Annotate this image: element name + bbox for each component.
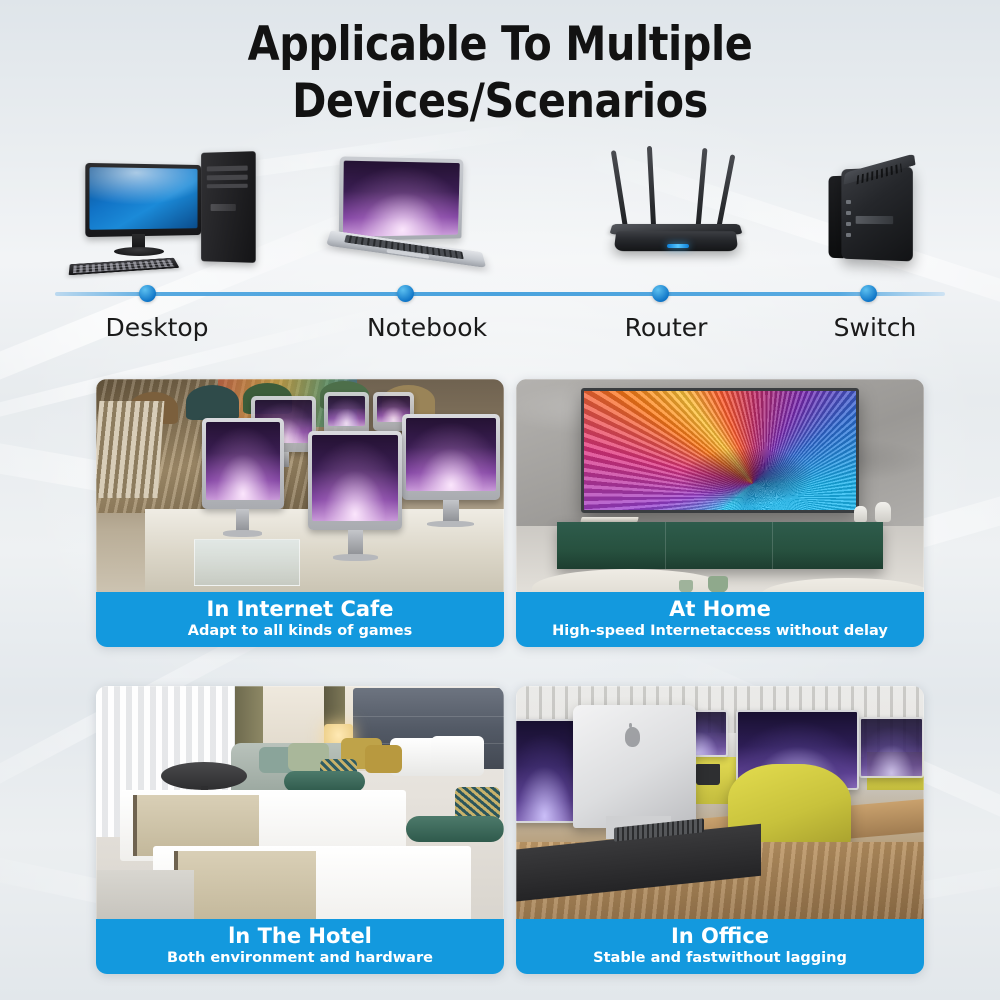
scene-subtitle: Both environment and hardware [102,950,498,967]
wifi-router-icon [595,144,785,284]
scene-title: In Office [522,924,918,948]
scene-caption-internet-cafe: In Internet Cafe Adapt to all kinds of g… [96,592,504,647]
timeline-dot-desktop[interactable] [139,285,156,302]
scene-subtitle: Adapt to all kinds of games [102,623,498,640]
timeline-label-desktop: Desktop [105,313,208,342]
desktop-computer-icon [62,144,262,284]
network-switch-icon [820,150,970,280]
page-title-line-2: Devices/Scenarios [60,73,940,130]
product-infographic-page: Applicable To Multiple Devices/Scenarios [0,0,1000,1000]
scene-title: At Home [522,597,918,621]
timeline-dot-notebook[interactable] [397,285,414,302]
scene-caption-at-home: At Home High-speed Internetaccess withou… [516,592,924,647]
scene-caption-office: In Office Stable and fastwithout lagging [516,919,924,974]
scene-caption-hotel: ln The Hotel Both environment and hardwa… [96,919,504,974]
timeline-label-notebook: Notebook [367,313,487,342]
scene-card-at-home[interactable]: At Home High-speed Internetaccess withou… [516,379,924,647]
scene-subtitle: High-speed Internetaccess without delay [522,623,918,640]
scene-subtitle: Stable and fastwithout lagging [522,950,918,967]
scene-card-office[interactable]: In Office Stable and fastwithout lagging [516,686,924,974]
timeline-label-switch: Switch [834,313,917,342]
page-title-line-1: Applicable To Multiple [60,16,940,73]
hotel-room-photo [96,686,504,922]
at-home-photo [516,379,924,595]
laptop-icon [325,150,515,280]
device-timeline-track [55,292,945,296]
timeline-label-router: Router [625,313,708,342]
timeline-dot-router[interactable] [652,285,669,302]
internet-cafe-photo [96,379,504,595]
scene-title: In Internet Cafe [102,597,498,621]
office-photo [516,686,924,922]
scene-card-hotel[interactable]: ln The Hotel Both environment and hardwa… [96,686,504,974]
timeline-dot-switch[interactable] [860,285,877,302]
page-title: Applicable To Multiple Devices/Scenarios [60,16,940,131]
scene-title: ln The Hotel [102,924,498,948]
device-row [40,144,960,284]
scene-card-internet-cafe[interactable]: In Internet Cafe Adapt to all kinds of g… [96,379,504,647]
